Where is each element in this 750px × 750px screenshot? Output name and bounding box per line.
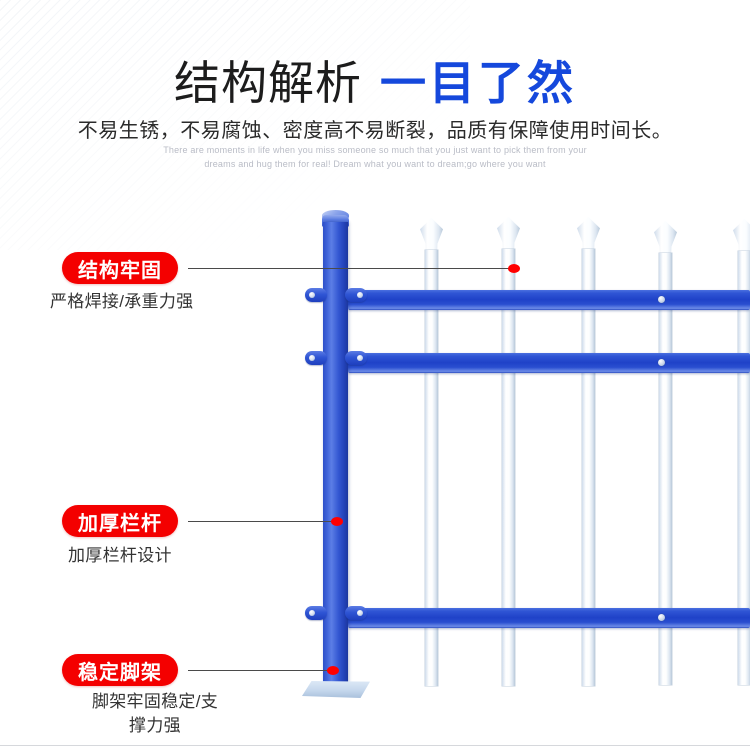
- callout-target-dot-footing: [327, 666, 339, 675]
- callout-leader-line-footing: [188, 670, 333, 671]
- fence-post: [323, 222, 348, 688]
- bracket-hole-icon: [357, 292, 363, 298]
- bracket-hole-icon: [309, 355, 315, 361]
- callout-desc-footing: 脚架牢固稳定/支 撑力强: [48, 690, 262, 738]
- callout-desc-structure: 严格焊接/承重力强: [50, 290, 310, 314]
- product-infographic: 结构解析一目了然 不易生锈，不易腐蚀、密度高不易断裂，品质有保障使用时间长。 T…: [0, 0, 750, 750]
- post-bracket-bottom-right: [345, 606, 367, 620]
- fence-illustration: [0, 0, 750, 750]
- bracket-hole-icon: [357, 610, 363, 616]
- rail-screw-icon: [658, 614, 665, 621]
- post-base-plate: [302, 681, 370, 698]
- rail-screw-icon: [658, 359, 665, 366]
- callout-target-dot-railing: [331, 517, 343, 526]
- ground-line: [0, 745, 750, 746]
- callout-desc-railing: 加厚栏杆设计: [68, 544, 308, 568]
- callout-target-dot-structure: [508, 264, 520, 273]
- fence-rail-upper: [348, 290, 750, 310]
- post-bracket-middle-right: [345, 351, 367, 365]
- callout-pill-footing[interactable]: 稳定脚架: [62, 654, 178, 686]
- fence-rail-middle: [348, 353, 750, 373]
- callout-leader-line-railing: [188, 521, 338, 522]
- callout-pill-railing[interactable]: 加厚栏杆: [62, 505, 178, 537]
- rail-screw-icon: [658, 296, 665, 303]
- bracket-hole-icon: [309, 610, 315, 616]
- bracket-hole-icon: [357, 355, 363, 361]
- callout-leader-line-structure: [188, 268, 518, 269]
- post-bracket-upper-right: [345, 288, 367, 302]
- fence-rail-bottom: [348, 608, 750, 628]
- callout-pill-structure[interactable]: 结构牢固: [62, 252, 178, 284]
